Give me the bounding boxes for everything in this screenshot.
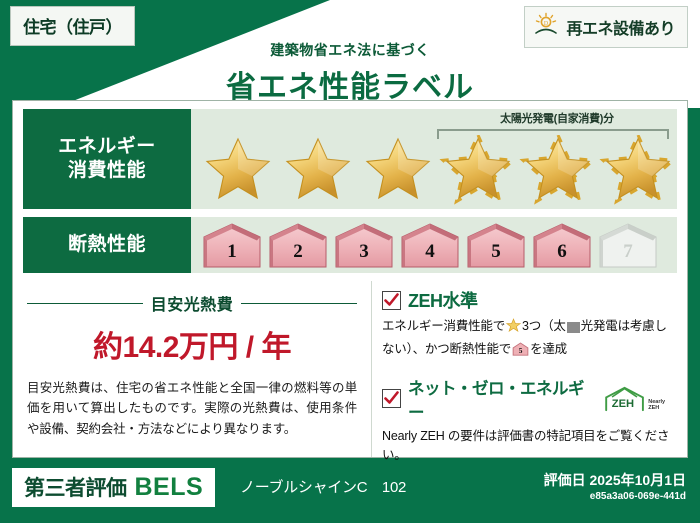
insulation-level-number: 7	[597, 241, 659, 263]
utility-cost-block: 目安光熱費 約14.2万円 / 年 目安光熱費は、住宅の省エネ性能と全国一律の燃…	[13, 281, 371, 457]
check-icon	[384, 293, 399, 308]
net-zero-head: ネット・ゼロ・エネルギー ZEH Nearly ZEH	[382, 375, 677, 423]
label-footer: 第三者評価 BELS ノーブルシャインC 102 評価日 2025年10月1日 …	[0, 460, 700, 523]
bels-badge: 第三者評価 BELS	[12, 468, 215, 507]
bels-energy-label: 住宅（住戸） D 再エネ設備あり 建築物省エネ法に基づく 省エネ性能ラベル	[0, 0, 700, 523]
zeh-desc-part3: を達成	[530, 342, 567, 356]
renewable-equipment-chip: D 再エネ設備あり	[524, 6, 688, 48]
insulation-level-2: 2	[267, 222, 329, 268]
insulation-level-number: 4	[399, 241, 461, 263]
bels-mark: BELS	[135, 473, 204, 502]
label-body-card: エネルギー 消費性能 太陽光発電(自家消費)分 断熱性能 1234567	[12, 100, 688, 458]
star-solar	[599, 135, 677, 205]
insulation-level-number: 2	[267, 241, 329, 263]
heading-rule-left	[27, 303, 143, 304]
net-zero-checkbox[interactable]	[382, 389, 401, 408]
zeh-standard-item: ZEH水準 エネルギー消費性能で3つ（太光発電は考慮しない）、かつ断熱性能で5を…	[382, 287, 677, 363]
zeh-checks-block: ZEH水準 エネルギー消費性能で3つ（太光発電は考慮しない）、かつ断熱性能で5を…	[371, 281, 687, 457]
check-icon	[384, 391, 399, 406]
redacted-block	[567, 322, 580, 333]
star-filled	[279, 135, 357, 205]
star-filled	[199, 135, 277, 205]
insulation-level-1: 1	[201, 222, 263, 268]
utility-cost-value: 約14.2万円 / 年	[27, 322, 357, 366]
energy-label-line2: 消費性能	[68, 159, 146, 183]
insulation-level-6: 6	[531, 222, 593, 268]
energy-label-line1: エネルギー	[58, 135, 156, 159]
insulation-level-number: 1	[201, 241, 263, 263]
insulation-levels-area: 1234567	[191, 217, 677, 273]
net-zero-title: ネット・ゼロ・エネルギー	[408, 375, 596, 423]
svg-text:ZEH: ZEH	[612, 397, 634, 409]
zeh-desc-star-count: 3つ（太	[522, 319, 566, 333]
energy-stars-area: 太陽光発電(自家消費)分	[191, 109, 677, 209]
svg-text:D: D	[544, 21, 549, 27]
solar-bracket-caption: 太陽光発電(自家消費)分	[441, 110, 673, 126]
inline-house-level-icon: 5	[512, 345, 529, 359]
renewable-equipment-label: 再エネ設備あり	[566, 15, 675, 39]
insulation-performance-section: 断熱性能 1234567	[23, 217, 677, 273]
svg-text:5: 5	[519, 346, 523, 355]
utility-cost-heading-text: 目安光熱費	[151, 291, 234, 315]
utility-cost-heading: 目安光熱費	[27, 291, 357, 315]
label-lower-half: 目安光熱費 約14.2万円 / 年 目安光熱費は、住宅の省エネ性能と全国一律の燃…	[13, 281, 687, 457]
property-name: ノーブルシャインC 102	[240, 476, 406, 497]
housing-type-chip: 住宅（住戸）	[10, 6, 135, 46]
net-zero-energy-item: ネット・ゼロ・エネルギー ZEH Nearly ZEH Nearly ZEH の…	[382, 375, 677, 467]
evaluation-date: 評価日 2025年10月1日	[544, 470, 686, 490]
solar-sun-icon: D	[533, 12, 559, 41]
zeh-desc-part1: エネルギー消費性能で	[382, 319, 505, 333]
insulation-level-7: 7	[597, 222, 659, 268]
housing-type-label: 住宅（住戸）	[23, 18, 122, 37]
insulation-performance-label: 断熱性能	[23, 217, 191, 273]
bels-prefix: 第三者評価	[24, 472, 127, 502]
energy-performance-label: エネルギー 消費性能	[23, 109, 191, 209]
evaluation-id: e85a3a06-069e-441d	[590, 491, 686, 502]
zeh-standard-desc: エネルギー消費性能で3つ（太光発電は考慮しない）、かつ断熱性能で5を達成	[382, 317, 677, 363]
insulation-level-number: 3	[333, 241, 395, 263]
insulation-level-number: 6	[531, 241, 593, 263]
star-solar	[519, 135, 597, 205]
zeh-standard-checkbox[interactable]	[382, 291, 401, 310]
insulation-level-4: 4	[399, 222, 461, 268]
energy-performance-section: エネルギー 消費性能 太陽光発電(自家消費)分	[23, 109, 677, 209]
zeh-logo-sub: Nearly ZEH	[648, 399, 677, 411]
zeh-house-logo: ZEH Nearly ZEH	[603, 386, 677, 412]
star-solar	[439, 135, 517, 205]
page-title: 省エネ性能ラベル	[0, 62, 700, 106]
label-title-block: 建築物省エネ法に基づく 省エネ性能ラベル	[0, 40, 700, 106]
energy-star-rating	[199, 135, 671, 205]
zeh-standard-head: ZEH水準	[382, 287, 677, 313]
insulation-label-text: 断熱性能	[68, 233, 146, 257]
zeh-standard-title: ZEH水準	[408, 287, 478, 313]
star-filled	[359, 135, 437, 205]
inline-star-icon	[506, 322, 521, 336]
insulation-level-number: 5	[465, 241, 527, 263]
heading-rule-right	[241, 303, 357, 304]
insulation-level-5: 5	[465, 222, 527, 268]
utility-cost-note: 目安光熱費は、住宅の省エネ性能と全国一律の燃料等の単価を用いて算出したものです。…	[27, 378, 357, 439]
insulation-level-scale: 1234567	[201, 221, 671, 269]
insulation-level-3: 3	[333, 222, 395, 268]
